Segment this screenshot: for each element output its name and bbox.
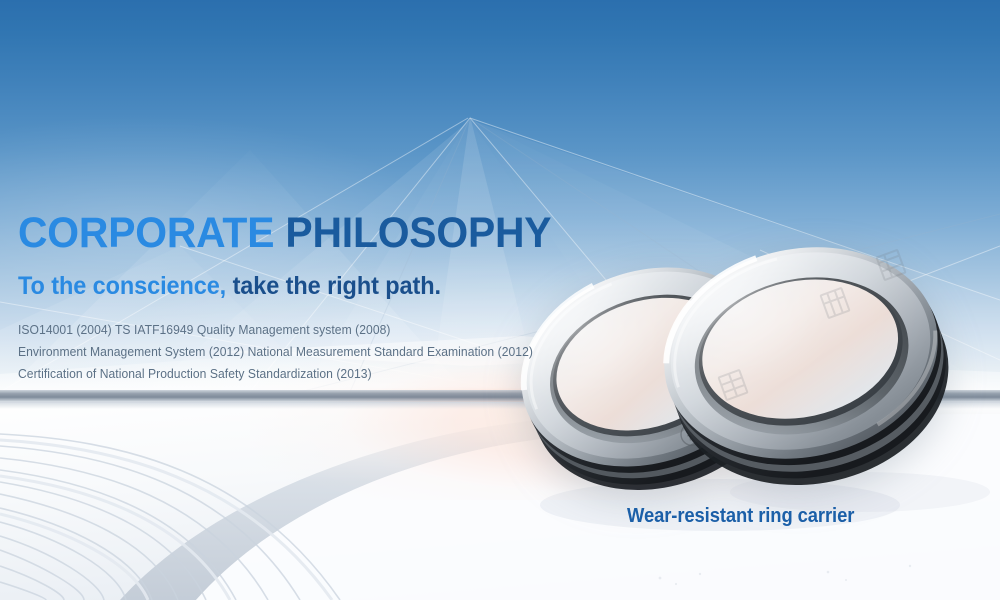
sub-headline-part-1: To the conscience, (18, 272, 226, 300)
sub-headline: To the conscience, take the right path. (18, 272, 582, 301)
certification-line: Certification of National Production Saf… (18, 363, 600, 385)
product-caption: Wear-resistant ring carrier (627, 505, 854, 528)
corporate-philosophy-banner: CORPORATE PHILOSOPHY To the conscience, … (0, 0, 1000, 600)
sub-headline-part-2: take the right path. (233, 272, 441, 300)
headline-part-1: CORPORATE (18, 209, 274, 257)
certification-line: Environment Management System (2012) Nat… (18, 341, 600, 363)
headline-copy-block: CORPORATE PHILOSOPHY To the conscience, … (18, 212, 618, 385)
certification-line: ISO14001 (2004) TS IATF16949 Quality Man… (18, 319, 600, 341)
page-title: CORPORATE PHILOSOPHY (18, 212, 588, 256)
headline-part-2: PHILOSOPHY (285, 209, 551, 257)
certification-list: ISO14001 (2004) TS IATF16949 Quality Man… (18, 319, 618, 385)
